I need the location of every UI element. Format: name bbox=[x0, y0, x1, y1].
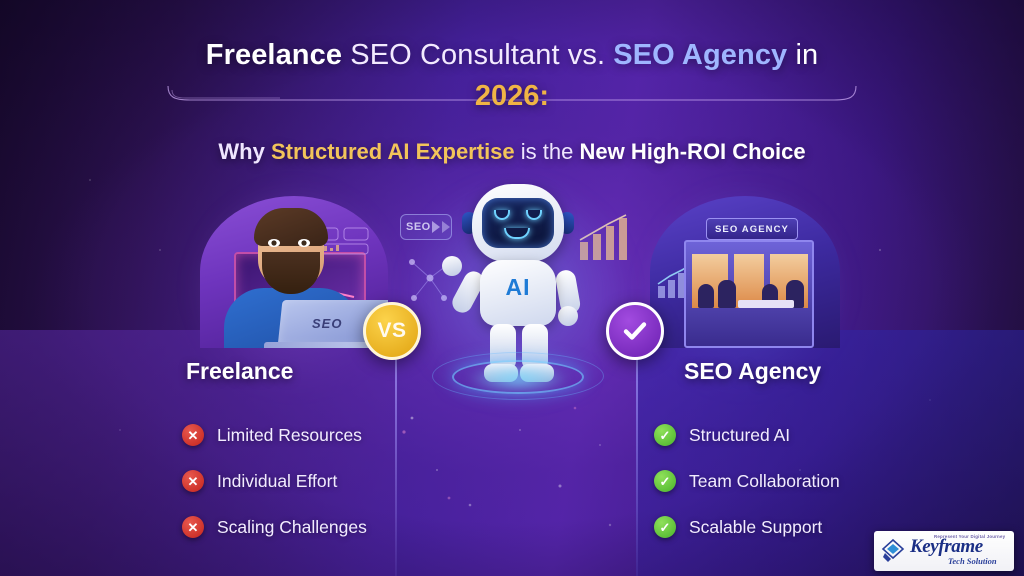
check-small-icon: ✓ bbox=[654, 424, 676, 446]
agency-list: ✓ Structured AI ✓ Team Collaboration ✓ S… bbox=[654, 412, 840, 550]
check-small-icon: ✓ bbox=[654, 470, 676, 492]
agency-scene: SEO AGENCY bbox=[650, 196, 840, 348]
list-item: ✓ Team Collaboration bbox=[654, 458, 840, 504]
check-small-icon: ✓ bbox=[654, 516, 676, 538]
logo-name: Keyframe bbox=[910, 536, 983, 558]
freelance-heading: Freelance bbox=[186, 358, 293, 385]
list-item-label: Structured AI bbox=[689, 425, 790, 446]
ai-robot-mascot: AI bbox=[418, 178, 618, 390]
agency-sign: SEO AGENCY bbox=[706, 218, 798, 240]
list-item: ✕ Individual Effort bbox=[182, 458, 367, 504]
list-item: ✓ Structured AI bbox=[654, 412, 840, 458]
subtitle-word-why: Why bbox=[218, 139, 264, 164]
title-word-consultant: SEO Consultant vs. bbox=[350, 39, 605, 71]
logo-subtitle: Tech Solution bbox=[948, 556, 997, 566]
agency-sign-label: SEO AGENCY bbox=[715, 224, 789, 235]
freelancer-scene: SEO bbox=[200, 196, 388, 348]
list-item-label: Individual Effort bbox=[217, 471, 337, 492]
list-item: ✓ Scalable Support bbox=[654, 504, 840, 550]
list-item-label: Limited Resources bbox=[217, 425, 362, 446]
divider-right bbox=[636, 332, 638, 576]
check-badge bbox=[606, 302, 664, 360]
infographic-canvas: Freelance SEO Consultant vs. SEO Agency … bbox=[0, 0, 1024, 576]
title-block: Freelance SEO Consultant vs. SEO Agency … bbox=[0, 38, 1024, 114]
robot-hologram-ring-inner bbox=[452, 360, 584, 394]
list-item-label: Scaling Challenges bbox=[217, 517, 367, 538]
title-word-in: in bbox=[795, 39, 818, 71]
list-item: ✕ Scaling Challenges bbox=[182, 504, 367, 550]
office-desk bbox=[738, 300, 794, 308]
cross-icon: ✕ bbox=[182, 424, 204, 446]
freelancer-illustration: SEO bbox=[200, 196, 388, 348]
freelancer-eyes bbox=[262, 236, 322, 250]
title-line-1: Freelance SEO Consultant vs. SEO Agency … bbox=[0, 38, 1024, 72]
freelance-list: ✕ Limited Resources ✕ Individual Effort … bbox=[182, 412, 367, 550]
office-person-1 bbox=[698, 284, 714, 308]
agency-office-illustration: SEO AGENCY bbox=[650, 196, 840, 348]
agency-heading: SEO Agency bbox=[684, 358, 821, 385]
vs-badge-label: VS bbox=[377, 319, 406, 343]
title-word-seo-agency: SEO Agency bbox=[613, 39, 787, 71]
cross-icon: ✕ bbox=[182, 516, 204, 538]
subtitle-highlight-structured-ai: Structured AI Expertise bbox=[271, 139, 515, 164]
robot-chest-ai-label: AI bbox=[480, 274, 556, 301]
keyframe-diamond-icon bbox=[879, 537, 907, 565]
list-item-label: Team Collaboration bbox=[689, 471, 840, 492]
robot-face-screen bbox=[482, 198, 554, 248]
list-item: ✕ Limited Resources bbox=[182, 412, 367, 458]
divider-left bbox=[395, 332, 397, 576]
subtitle-highlight-high-roi: New High-ROI Choice bbox=[580, 139, 806, 164]
brand-logo: Represent Your Digital Journey Keyframe … bbox=[874, 531, 1014, 571]
vs-badge: VS bbox=[363, 302, 421, 360]
cross-icon: ✕ bbox=[182, 470, 204, 492]
laptop-seo-label: SEO bbox=[312, 316, 342, 331]
subtitle-word-isthe: is the bbox=[521, 139, 574, 164]
title-year: 2026: bbox=[0, 78, 1024, 114]
title-word-freelance: Freelance bbox=[206, 39, 342, 71]
list-item-label: Scalable Support bbox=[689, 517, 822, 538]
subtitle-line: Why Structured AI Expertise is the New H… bbox=[0, 138, 1024, 166]
robot-hand-left bbox=[442, 256, 462, 276]
office-person-2 bbox=[718, 280, 736, 308]
check-icon bbox=[620, 316, 650, 346]
robot-hand-right bbox=[558, 306, 578, 326]
